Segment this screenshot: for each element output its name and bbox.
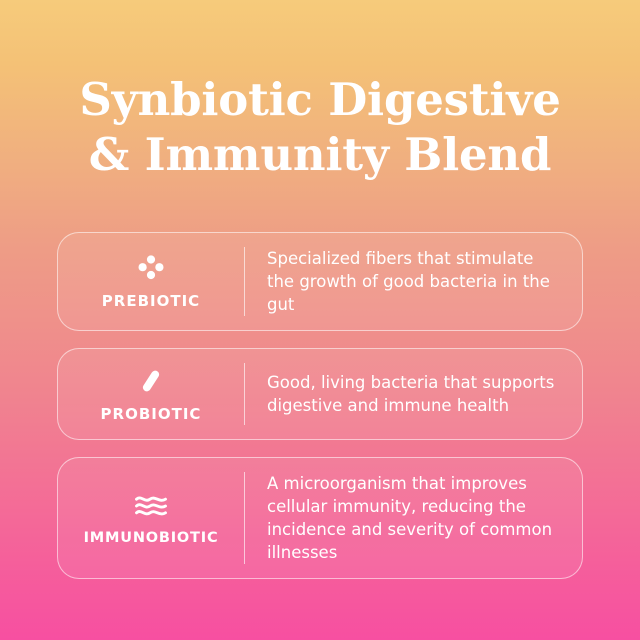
card-label-immunobiotic: IMMUNOBIOTIC: [84, 530, 219, 546]
card-right-immunobiotic: A microorganism that improves cellular i…: [245, 458, 582, 578]
card-label-prebiotic: PREBIOTIC: [102, 292, 200, 310]
card-left-prebiotic: PREBIOTIC: [58, 233, 244, 330]
benefit-card-immunobiotic: IMMUNOBIOTIC A microorganism that improv…: [57, 457, 583, 579]
wavy-lines-icon: [134, 491, 168, 521]
card-description-immunobiotic: A microorganism that improves cellular i…: [267, 472, 560, 564]
card-right-probiotic: Good, living bacteria that supports dige…: [245, 349, 582, 439]
benefit-card-prebiotic: PREBIOTIC Specialized fibers that stimul…: [57, 232, 583, 331]
card-description-probiotic: Good, living bacteria that supports dige…: [267, 371, 560, 417]
card-left-probiotic: PROBIOTIC: [58, 349, 244, 439]
card-description-prebiotic: Specialized fibers that stimulate the gr…: [267, 247, 560, 316]
four-dots-diamond-icon: [134, 253, 168, 283]
page-title: Synbiotic Digestive & Immunity Blend: [0, 72, 640, 182]
card-label-probiotic: PROBIOTIC: [101, 405, 202, 423]
benefit-card-probiotic: PROBIOTIC Good, living bacteria that sup…: [57, 348, 583, 440]
title-line-2: & Immunity Blend: [0, 127, 640, 182]
poster-canvas: Synbiotic Digestive & Immunity Blend PRE…: [0, 0, 640, 640]
title-line-1: Synbiotic Digestive: [0, 72, 640, 127]
card-left-immunobiotic: IMMUNOBIOTIC: [58, 458, 244, 578]
card-right-prebiotic: Specialized fibers that stimulate the gr…: [245, 233, 582, 330]
benefit-card-list: PREBIOTIC Specialized fibers that stimul…: [57, 232, 583, 579]
capsule-icon: [134, 366, 168, 396]
